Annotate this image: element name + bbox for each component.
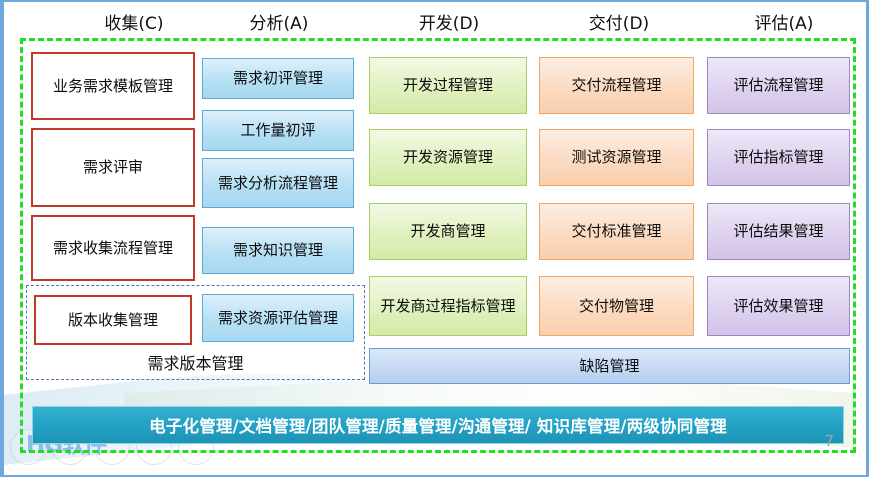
module-box-label: 开发商管理 (410, 222, 485, 240)
column-header-deliver: 交付(D) (549, 9, 689, 34)
module-box-label: 缺陷管理 (579, 357, 639, 375)
module-box[interactable]: 评估指标管理 (707, 129, 850, 186)
module-box-label: 需求初评管理 (233, 69, 323, 87)
module-box-label: 评估流程管理 (733, 76, 823, 94)
module-box[interactable]: 需求知识管理 (202, 227, 354, 274)
module-box[interactable]: 需求初评管理 (202, 58, 354, 99)
module-box-label: 开发商过程指标管理 (380, 297, 515, 315)
module-box[interactable]: 交付物管理 (539, 276, 694, 336)
module-box[interactable]: 需求收集流程管理 (31, 215, 195, 281)
foundation-banner-text: 电子化管理/文档管理/团队管理/质量管理/沟通管理/ 知识库管理/两级协同管理 (149, 413, 727, 437)
foundation-banner: 电子化管理/文档管理/团队管理/质量管理/沟通管理/ 知识库管理/两级协同管理 (32, 406, 844, 444)
module-box[interactable]: 业务需求模板管理 (31, 52, 195, 120)
module-box-label: 开发资源管理 (403, 148, 493, 166)
module-box[interactable]: 评估效果管理 (707, 276, 850, 336)
module-box-label: 需求资源评估管理 (218, 309, 338, 327)
module-box-label: 需求分析流程管理 (218, 174, 338, 192)
module-box[interactable]: 工作量初评 (202, 110, 354, 151)
module-box-label: 需求收集流程管理 (53, 239, 173, 257)
module-box[interactable]: 需求资源评估管理 (202, 294, 354, 342)
module-box[interactable]: 开发资源管理 (369, 129, 527, 186)
module-box[interactable]: 交付流程管理 (539, 57, 694, 114)
page-number: 7 (824, 432, 834, 450)
module-box-label: 评估效果管理 (733, 297, 823, 315)
module-box[interactable]: 缺陷管理 (369, 348, 850, 384)
module-box[interactable]: 开发过程管理 (369, 57, 527, 114)
module-box[interactable]: 交付标准管理 (539, 203, 694, 260)
module-box-label: 评估指标管理 (733, 148, 823, 166)
module-box-label: 版本收集管理 (68, 311, 158, 329)
module-box-label: 开发过程管理 (403, 76, 493, 94)
column-header-collect: 收集(C) (64, 9, 204, 34)
module-box[interactable]: 开发商过程指标管理 (369, 276, 527, 336)
module-box-label: 测试资源管理 (571, 148, 661, 166)
column-header-analyze: 分析(A) (209, 9, 349, 34)
column-header-develop: 开发(D) (379, 9, 519, 34)
module-box[interactable]: 版本收集管理 (34, 295, 192, 345)
module-box-label: 交付标准管理 (571, 222, 661, 240)
module-box[interactable]: 评估结果管理 (707, 203, 850, 260)
module-box[interactable]: 开发商管理 (369, 203, 527, 260)
column-header-evaluate: 评估(A) (714, 9, 854, 34)
module-box[interactable]: 需求分析流程管理 (202, 158, 354, 208)
module-box-label: 交付物管理 (579, 297, 654, 315)
module-box-label: 需求评审 (83, 158, 143, 176)
slide-canvas: HG软件 收集(C) 分析(A) 开发(D) 交付(D) 评估(A) 需求版本管… (0, 0, 869, 477)
module-box-label: 业务需求模板管理 (53, 77, 173, 95)
module-box[interactable]: 需求评审 (31, 128, 195, 207)
module-box[interactable]: 测试资源管理 (539, 129, 694, 186)
module-box-label: 评估结果管理 (733, 222, 823, 240)
module-box[interactable]: 评估流程管理 (707, 57, 850, 114)
module-box-label: 工作量初评 (240, 121, 315, 139)
version-management-group-label: 需求版本管理 (26, 350, 365, 374)
module-box-label: 需求知识管理 (233, 241, 323, 259)
module-box-label: 交付流程管理 (571, 76, 661, 94)
